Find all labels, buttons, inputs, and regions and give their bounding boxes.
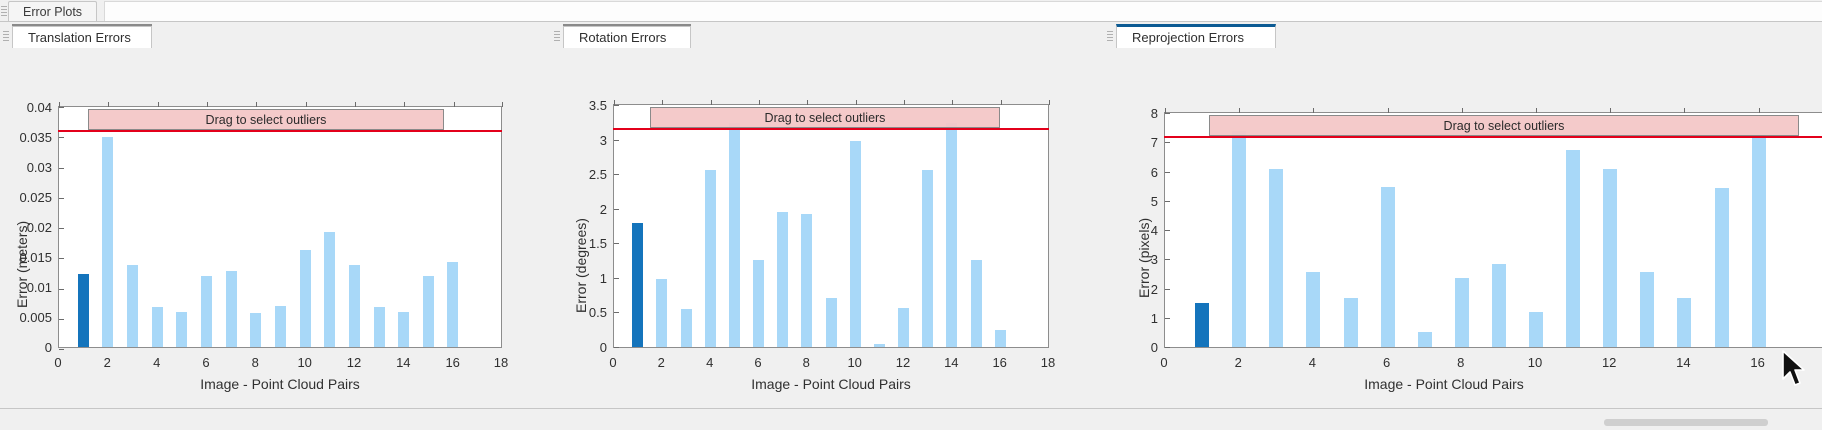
x-tick-label: 12 [1595,355,1623,370]
panels-container: Translation Errors Error (meters) 0 0.00… [0,22,1822,408]
bar[interactable] [374,307,385,347]
y-tick-label: 0.01 [0,280,52,295]
bar[interactable] [971,260,982,347]
y-tick-label: 0.015 [0,250,52,265]
outlier-selection-band[interactable]: Drag to select outliers [88,109,444,130]
x-tick-label: 8 [241,355,269,370]
y-tick-label: 6 [1124,165,1158,180]
document-tab-error-plots[interactable]: Error Plots [8,1,97,22]
bar[interactable] [423,276,434,347]
y-axis-label: Error (degrees) [573,218,589,313]
bar[interactable] [632,223,643,347]
bar[interactable] [753,260,764,347]
x-tick-label: 18 [487,355,515,370]
y-tick-label: 0.025 [0,190,52,205]
bar[interactable] [826,298,837,347]
bar[interactable] [349,265,360,347]
bar-series-rotation [614,105,1048,347]
bar[interactable] [275,306,286,347]
x-axis-label: Image - Point Cloud Pairs [1164,376,1724,392]
document-tabstrip-filler [104,1,1822,22]
bar[interactable] [1752,138,1766,347]
bar[interactable] [152,307,163,347]
y-tick-label: 0.04 [0,100,52,115]
y-tick-label: 1 [561,271,607,286]
bar[interactable] [1529,312,1543,347]
bar[interactable] [1455,278,1469,347]
x-tick-label: 16 [1744,355,1772,370]
bar[interactable] [656,279,667,347]
drag-handle-icon[interactable] [554,30,560,43]
y-tick-label: 0.02 [0,220,52,235]
bar[interactable] [705,170,716,347]
x-tick-label: 10 [1521,355,1549,370]
panel-tabstrip-2: Reprojection Errors [1104,22,1822,48]
y-tick-label: 0.5 [561,305,607,320]
outlier-threshold-line[interactable] [1164,136,1822,138]
bar[interactable] [1269,169,1283,347]
x-tick-label: 18 [1034,355,1062,370]
bar[interactable] [777,212,788,347]
y-tick-label: 0 [0,340,52,355]
y-tick-label: 3 [561,133,607,148]
bar[interactable] [1566,150,1580,347]
bar[interactable] [1381,187,1395,347]
bar[interactable] [398,312,409,347]
y-tick-label: 5 [1124,194,1158,209]
y-tick-label: 4 [1124,223,1158,238]
outlier-band-label: Drag to select outliers [206,113,327,127]
mouse-cursor-icon [1779,349,1809,391]
tab-label: Rotation Errors [579,30,666,45]
bar[interactable] [176,312,187,347]
bar[interactable] [201,276,212,347]
panel-rotation-errors: Rotation Errors Error (degrees) 0 0.5 1 … [551,22,1104,408]
y-tick-label: 0 [561,340,607,355]
bar[interactable] [1677,298,1691,348]
tab-translation-errors[interactable]: Translation Errors [12,26,152,48]
y-tick-label: 0.03 [0,160,52,175]
bar[interactable] [850,141,861,347]
document-tabstrip: Error Plots [0,0,1822,22]
bar-series-translation [59,107,501,347]
panel-reprojection-errors: Reprojection Errors Error (pixels) 0 1 2… [1104,22,1822,408]
plot-area[interactable]: Drag to select outliers [613,104,1049,348]
x-tick-label: 0 [44,355,72,370]
x-tick-label: 16 [439,355,467,370]
bottom-status-strip [0,408,1822,430]
panel-tabstrip-1: Rotation Errors [551,22,1104,48]
outlier-band-label: Drag to select outliers [765,111,886,125]
tab-label: Translation Errors [28,30,131,45]
x-tick-label: 2 [647,355,675,370]
x-tick-label: 8 [1447,355,1475,370]
outlier-threshold-line[interactable] [613,128,1049,130]
bar-series-reprojection [1165,113,1822,347]
y-tick-label: 0.035 [0,130,52,145]
x-tick-label: 10 [841,355,869,370]
x-tick-label: 14 [389,355,417,370]
y-tick-label: 3 [1124,252,1158,267]
y-tick-label: 2 [561,202,607,217]
bar[interactable] [1306,272,1320,347]
document-tab-label: Error Plots [23,5,82,19]
bar[interactable] [1715,188,1729,348]
bar[interactable] [300,250,311,347]
bar[interactable] [78,274,89,347]
x-tick-label: 4 [143,355,171,370]
y-tick-label: 0 [1124,340,1158,355]
x-tick-label: 8 [792,355,820,370]
bar[interactable] [250,313,261,347]
bar[interactable] [922,170,933,347]
bar[interactable] [995,330,1006,347]
x-tick-label: 14 [937,355,965,370]
panel-tabstrip-0: Translation Errors [0,22,551,48]
bar[interactable] [1344,298,1358,348]
bar[interactable] [1640,272,1654,347]
outlier-band-label: Drag to select outliers [1444,119,1565,133]
x-tick-label: 0 [599,355,627,370]
drag-handle-icon[interactable] [1107,30,1113,43]
x-tick-label: 6 [192,355,220,370]
bar[interactable] [1232,131,1246,347]
tab-rotation-errors[interactable]: Rotation Errors [563,26,691,48]
plot-area[interactable]: Drag to select outliers [1164,112,1822,348]
chart-reprojection-errors: Error (pixels) 0 1 2 3 4 5 6 7 8 [1104,48,1822,408]
x-tick-label: 0 [1150,355,1178,370]
bar[interactable] [729,123,740,347]
panel-translation-errors: Translation Errors Error (meters) 0 0.00… [0,22,551,408]
bar[interactable] [102,137,113,348]
y-tick-label: 2 [1124,282,1158,297]
bar[interactable] [1603,169,1617,347]
bar[interactable] [1418,332,1432,348]
error-plots-window: Error Plots Translation Errors Error (me… [0,0,1822,430]
x-axis-label: Image - Point Cloud Pairs [613,376,1049,392]
horizontal-scrollbar[interactable] [1604,419,1768,426]
x-axis-label: Image - Point Cloud Pairs [58,376,502,392]
bar[interactable] [447,262,458,347]
bar[interactable] [1195,303,1209,347]
bar[interactable] [324,232,335,347]
chart-rotation-errors: Error (degrees) 0 0.5 1 1.5 2 2.5 3 3.5 [551,48,1104,408]
x-tick-label: 2 [1224,355,1252,370]
y-tick-label: 7 [1124,135,1158,150]
tab-label: Reprojection Errors [1132,30,1244,45]
x-tick-label: 2 [93,355,121,370]
drag-handle-icon[interactable] [3,30,9,43]
drag-handle-icon[interactable] [1,5,7,18]
bar[interactable] [946,123,957,347]
bar[interactable] [874,344,885,347]
bar[interactable] [127,265,138,347]
plot-area[interactable]: Drag to select outliers [58,106,502,348]
chart-translation-errors: Error (meters) 0 0.005 0.01 0.015 0.02 0… [0,48,551,408]
bar[interactable] [1492,264,1506,347]
x-tick-label: 4 [1298,355,1326,370]
x-tick-label: 12 [889,355,917,370]
bar[interactable] [681,309,692,347]
outlier-selection-band[interactable]: Drag to select outliers [650,107,1000,128]
x-tick-label: 10 [291,355,319,370]
y-tick-label: 1.5 [561,236,607,251]
outlier-threshold-line[interactable] [58,130,502,132]
y-tick-label: 3.5 [561,98,607,113]
y-tick-label: 0.005 [0,310,52,325]
y-tick-label: 1 [1124,311,1158,326]
tab-reprojection-errors[interactable]: Reprojection Errors [1116,24,1276,48]
outlier-selection-band[interactable]: Drag to select outliers [1209,115,1799,136]
bar[interactable] [226,271,237,347]
bar[interactable] [801,214,812,347]
x-tick-label: 16 [986,355,1014,370]
y-tick-label: 8 [1124,106,1158,121]
x-tick-label: 4 [696,355,724,370]
x-tick-label: 12 [340,355,368,370]
x-tick-label: 14 [1669,355,1697,370]
x-tick-label: 6 [1373,355,1401,370]
bar[interactable] [898,308,909,347]
y-tick-label: 2.5 [561,167,607,182]
x-tick-label: 6 [744,355,772,370]
